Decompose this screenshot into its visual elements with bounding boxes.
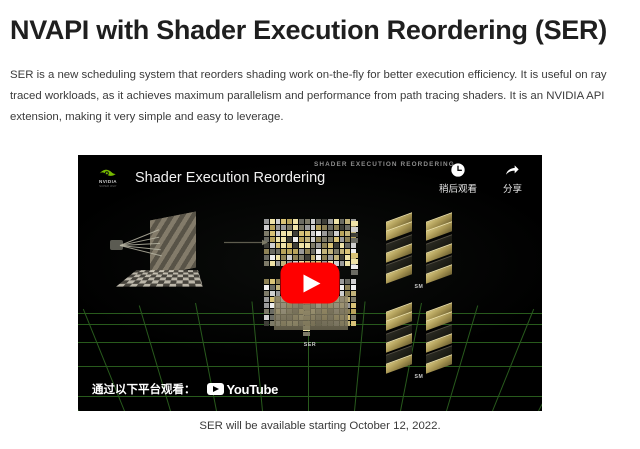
work-tile — [316, 219, 321, 224]
work-tile — [299, 249, 304, 254]
work-tile — [316, 237, 321, 242]
work-tile — [299, 255, 304, 260]
work-tile — [340, 279, 345, 284]
work-tile — [264, 255, 269, 260]
work-tile — [287, 255, 292, 260]
work-tile — [299, 237, 304, 242]
work-tile — [334, 225, 339, 230]
work-tile — [316, 255, 321, 260]
work-tile — [311, 231, 316, 236]
work-tile — [351, 253, 358, 258]
work-tile — [281, 225, 286, 230]
work-tile — [305, 231, 310, 236]
work-tile — [276, 237, 281, 242]
watch-later-button[interactable]: 稍后观看 — [439, 162, 477, 195]
work-tile — [351, 221, 358, 226]
work-tile — [299, 225, 304, 230]
work-tile — [270, 225, 275, 230]
work-tile — [270, 243, 275, 248]
work-tile — [322, 225, 327, 230]
work-tile — [345, 261, 350, 266]
work-tile — [270, 237, 275, 242]
work-tile — [340, 285, 345, 290]
work-tile — [328, 225, 333, 230]
work-tile — [276, 255, 281, 260]
share-arrow-icon — [504, 162, 520, 178]
work-tile — [311, 225, 316, 230]
work-tile — [264, 303, 269, 308]
work-tile — [345, 279, 350, 284]
nvidia-sub-wordmark: SUPER WHY — [99, 185, 117, 189]
work-tile — [276, 219, 281, 224]
work-tile — [351, 303, 356, 308]
work-tile — [299, 219, 304, 224]
work-tile — [264, 249, 269, 254]
work-tile — [345, 285, 350, 290]
video-actions: 稍后观看 分享 — [439, 162, 528, 195]
work-tile — [351, 259, 358, 264]
youtube-logo[interactable]: YouTube — [207, 382, 279, 397]
work-tile — [351, 315, 356, 320]
video-player[interactable]: SER SM SM NVIDIA SUPER WHY Shader Execut… — [78, 155, 542, 411]
label-ser: SER — [264, 342, 356, 348]
share-button[interactable]: 分享 — [503, 162, 522, 195]
work-tile — [345, 243, 350, 248]
work-tile — [340, 219, 345, 224]
work-tile — [305, 219, 310, 224]
work-tile — [328, 231, 333, 236]
work-tile — [293, 243, 298, 248]
video-top-bar: NVIDIA SUPER WHY Shader Execution Reorde… — [78, 155, 542, 201]
scene-checker-floor — [116, 270, 203, 286]
work-tile — [351, 285, 356, 290]
work-tile — [264, 321, 269, 326]
work-tile — [276, 243, 281, 248]
work-tile — [345, 237, 350, 242]
flow-arrow-icon — [224, 239, 268, 246]
work-tile — [264, 309, 269, 314]
work-tile — [351, 321, 356, 326]
work-tile — [293, 231, 298, 236]
work-tile — [316, 243, 321, 248]
work-tile — [316, 225, 321, 230]
work-tile — [264, 291, 269, 296]
work-tile — [264, 297, 269, 302]
work-tile — [322, 249, 327, 254]
work-tile — [340, 261, 345, 266]
work-tile — [311, 249, 316, 254]
work-tile — [322, 243, 327, 248]
work-tile — [351, 243, 356, 248]
work-tile — [340, 249, 345, 254]
work-tile — [334, 243, 339, 248]
article-page: NVAPI with Shader Execution Reordering (… — [0, 0, 640, 449]
work-tile — [276, 261, 281, 266]
work-tile — [293, 219, 298, 224]
work-tile — [311, 237, 316, 242]
work-tile — [351, 265, 358, 270]
incoherent-work-grid — [264, 219, 356, 266]
work-tile — [281, 231, 286, 236]
work-tile — [287, 219, 292, 224]
work-tile — [281, 237, 286, 242]
work-tile — [345, 231, 350, 236]
work-tile — [305, 249, 310, 254]
work-tile — [305, 243, 310, 248]
work-tile — [322, 219, 327, 224]
youtube-wordmark: YouTube — [227, 382, 279, 397]
work-tile — [264, 285, 269, 290]
work-tile — [270, 261, 275, 266]
work-queue-column — [351, 221, 358, 243]
work-tile — [345, 219, 350, 224]
work-tile — [328, 243, 333, 248]
work-tile — [305, 225, 310, 230]
work-tile — [322, 237, 327, 242]
work-tile — [351, 227, 358, 232]
work-tile — [351, 309, 356, 314]
work-tile — [316, 249, 321, 254]
figure-caption: SER will be available starting October 1… — [0, 420, 640, 432]
work-tile — [264, 219, 269, 224]
work-tile — [293, 237, 298, 242]
work-tile — [334, 255, 339, 260]
work-tile — [334, 249, 339, 254]
work-tile — [328, 219, 333, 224]
work-tile — [334, 231, 339, 236]
page-title: NVAPI with Shader Execution Reordering (… — [10, 0, 630, 47]
work-tile — [293, 255, 298, 260]
work-tile — [340, 231, 345, 236]
work-queue-column — [351, 253, 358, 275]
work-tile — [264, 279, 269, 284]
video-title[interactable]: Shader Execution Reordering — [135, 170, 325, 186]
work-tile — [276, 249, 281, 254]
nvidia-logo-icon: NVIDIA SUPER WHY — [90, 167, 126, 189]
work-tile — [316, 231, 321, 236]
watch-on-label: 通过以下平台观看： — [92, 381, 196, 397]
work-tile — [351, 238, 358, 243]
label-sm-bottom: SM — [386, 374, 452, 380]
work-tile — [351, 291, 356, 296]
clock-icon — [450, 162, 466, 178]
work-tile — [281, 249, 286, 254]
work-tile — [322, 255, 327, 260]
work-tile — [270, 231, 275, 236]
work-tile — [264, 315, 269, 320]
work-tile — [264, 225, 269, 230]
work-tile — [340, 255, 345, 260]
work-tile — [276, 231, 281, 236]
work-tile — [281, 219, 286, 224]
play-button[interactable] — [281, 263, 340, 304]
work-tile — [264, 231, 269, 236]
work-tile — [270, 279, 275, 284]
work-tile — [351, 233, 358, 238]
work-tile — [264, 261, 269, 266]
work-tile — [322, 231, 327, 236]
article-paragraph: SER is a new scheduling system that reor… — [10, 47, 626, 128]
work-tile — [287, 231, 292, 236]
work-tile — [311, 219, 316, 224]
work-tile — [281, 243, 286, 248]
work-tile — [340, 225, 345, 230]
raytraced-scene-render — [106, 212, 216, 298]
watch-later-label: 稍后观看 — [439, 181, 477, 195]
watch-on-bar: 通过以下平台观看： YouTube — [92, 381, 278, 397]
work-tile — [340, 237, 345, 242]
work-tile — [281, 255, 286, 260]
youtube-play-badge-icon — [207, 383, 224, 395]
work-tile — [328, 249, 333, 254]
work-tile — [345, 225, 350, 230]
work-tile — [293, 249, 298, 254]
work-tile — [311, 243, 316, 248]
video-embed[interactable]: SER SM SM NVIDIA SUPER WHY Shader Execut… — [78, 155, 542, 411]
work-tile — [270, 255, 275, 260]
work-tile — [299, 243, 304, 248]
work-tile — [311, 255, 316, 260]
label-sm-top: SM — [386, 284, 452, 290]
work-tile — [351, 270, 358, 275]
work-tile — [270, 285, 275, 290]
work-tile — [305, 255, 310, 260]
work-tile — [303, 332, 310, 336]
work-tile — [328, 237, 333, 242]
work-tile — [351, 297, 356, 302]
work-tile — [340, 243, 345, 248]
share-label: 分享 — [503, 181, 522, 195]
work-tile — [334, 219, 339, 224]
work-tile — [334, 237, 339, 242]
work-tile — [299, 231, 304, 236]
work-tile — [293, 225, 298, 230]
work-tile — [270, 219, 275, 224]
work-tile — [287, 225, 292, 230]
work-tile — [276, 225, 281, 230]
work-tile — [351, 279, 356, 284]
work-tile — [270, 249, 275, 254]
work-tile — [345, 255, 350, 260]
work-tile — [305, 237, 310, 242]
work-tile — [328, 255, 333, 260]
work-tile — [287, 249, 292, 254]
work-tile — [287, 243, 292, 248]
work-tile — [345, 249, 350, 254]
work-tile — [287, 237, 292, 242]
